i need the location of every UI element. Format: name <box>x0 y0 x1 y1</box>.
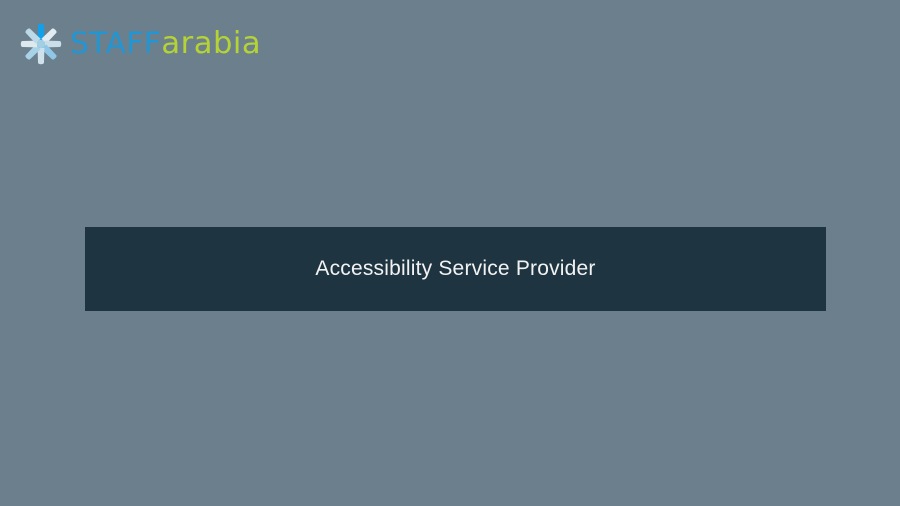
brand-wordmark-arabia: arabia <box>161 29 261 59</box>
brand-logo[interactable]: STAFFarabia <box>20 22 257 66</box>
title-plate: Accessibility Service Provider <box>85 227 826 311</box>
brand-wordmark-staff: STAFF <box>70 29 161 58</box>
slide-title: Accessibility Service Provider <box>315 256 595 281</box>
brand-wordmark: STAFFarabia <box>70 29 261 59</box>
snowflake-asterisk-icon <box>20 23 62 65</box>
slide-canvas: STAFFarabia Accessibility Service Provid… <box>0 0 900 506</box>
